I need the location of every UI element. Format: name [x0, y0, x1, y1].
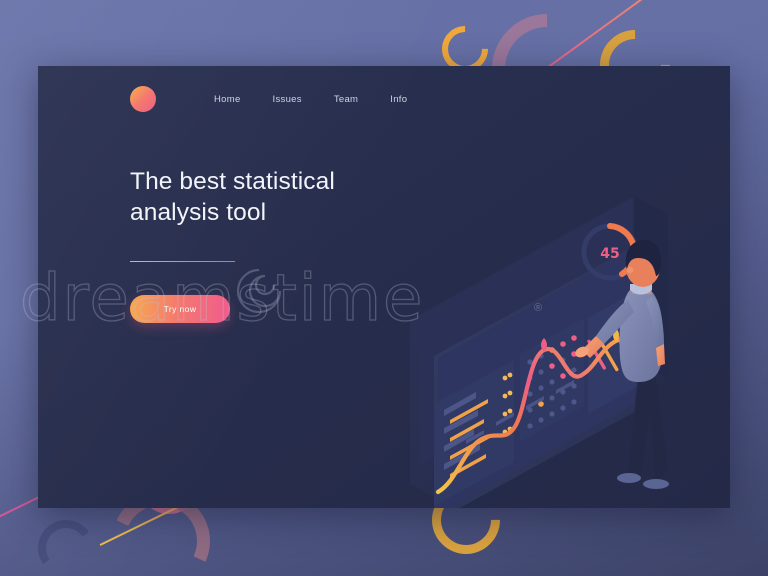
headline-line-1: The best statistical	[130, 168, 335, 195]
nav-item-info[interactable]: Info	[390, 94, 407, 105]
nav-links: Home Issues Team Info	[214, 94, 407, 105]
isometric-analytics-dashboard: 45	[338, 110, 730, 508]
hero-card: Home Issues Team Info The best statistic…	[38, 66, 730, 508]
nav-item-home[interactable]: Home	[214, 94, 241, 105]
try-now-button[interactable]: Try now	[130, 295, 230, 323]
headline-line-2: analysis tool	[130, 199, 266, 226]
screenshot-root: Home Issues Team Info The best statistic…	[0, 0, 768, 576]
gauge-value: 45	[600, 246, 619, 262]
nav-item-team[interactable]: Team	[334, 94, 358, 105]
headline-divider	[130, 261, 235, 263]
brand-logo-circle-icon[interactable]	[130, 86, 156, 112]
navbar: Home Issues Team Info	[130, 86, 407, 112]
nav-item-issues[interactable]: Issues	[273, 94, 302, 105]
